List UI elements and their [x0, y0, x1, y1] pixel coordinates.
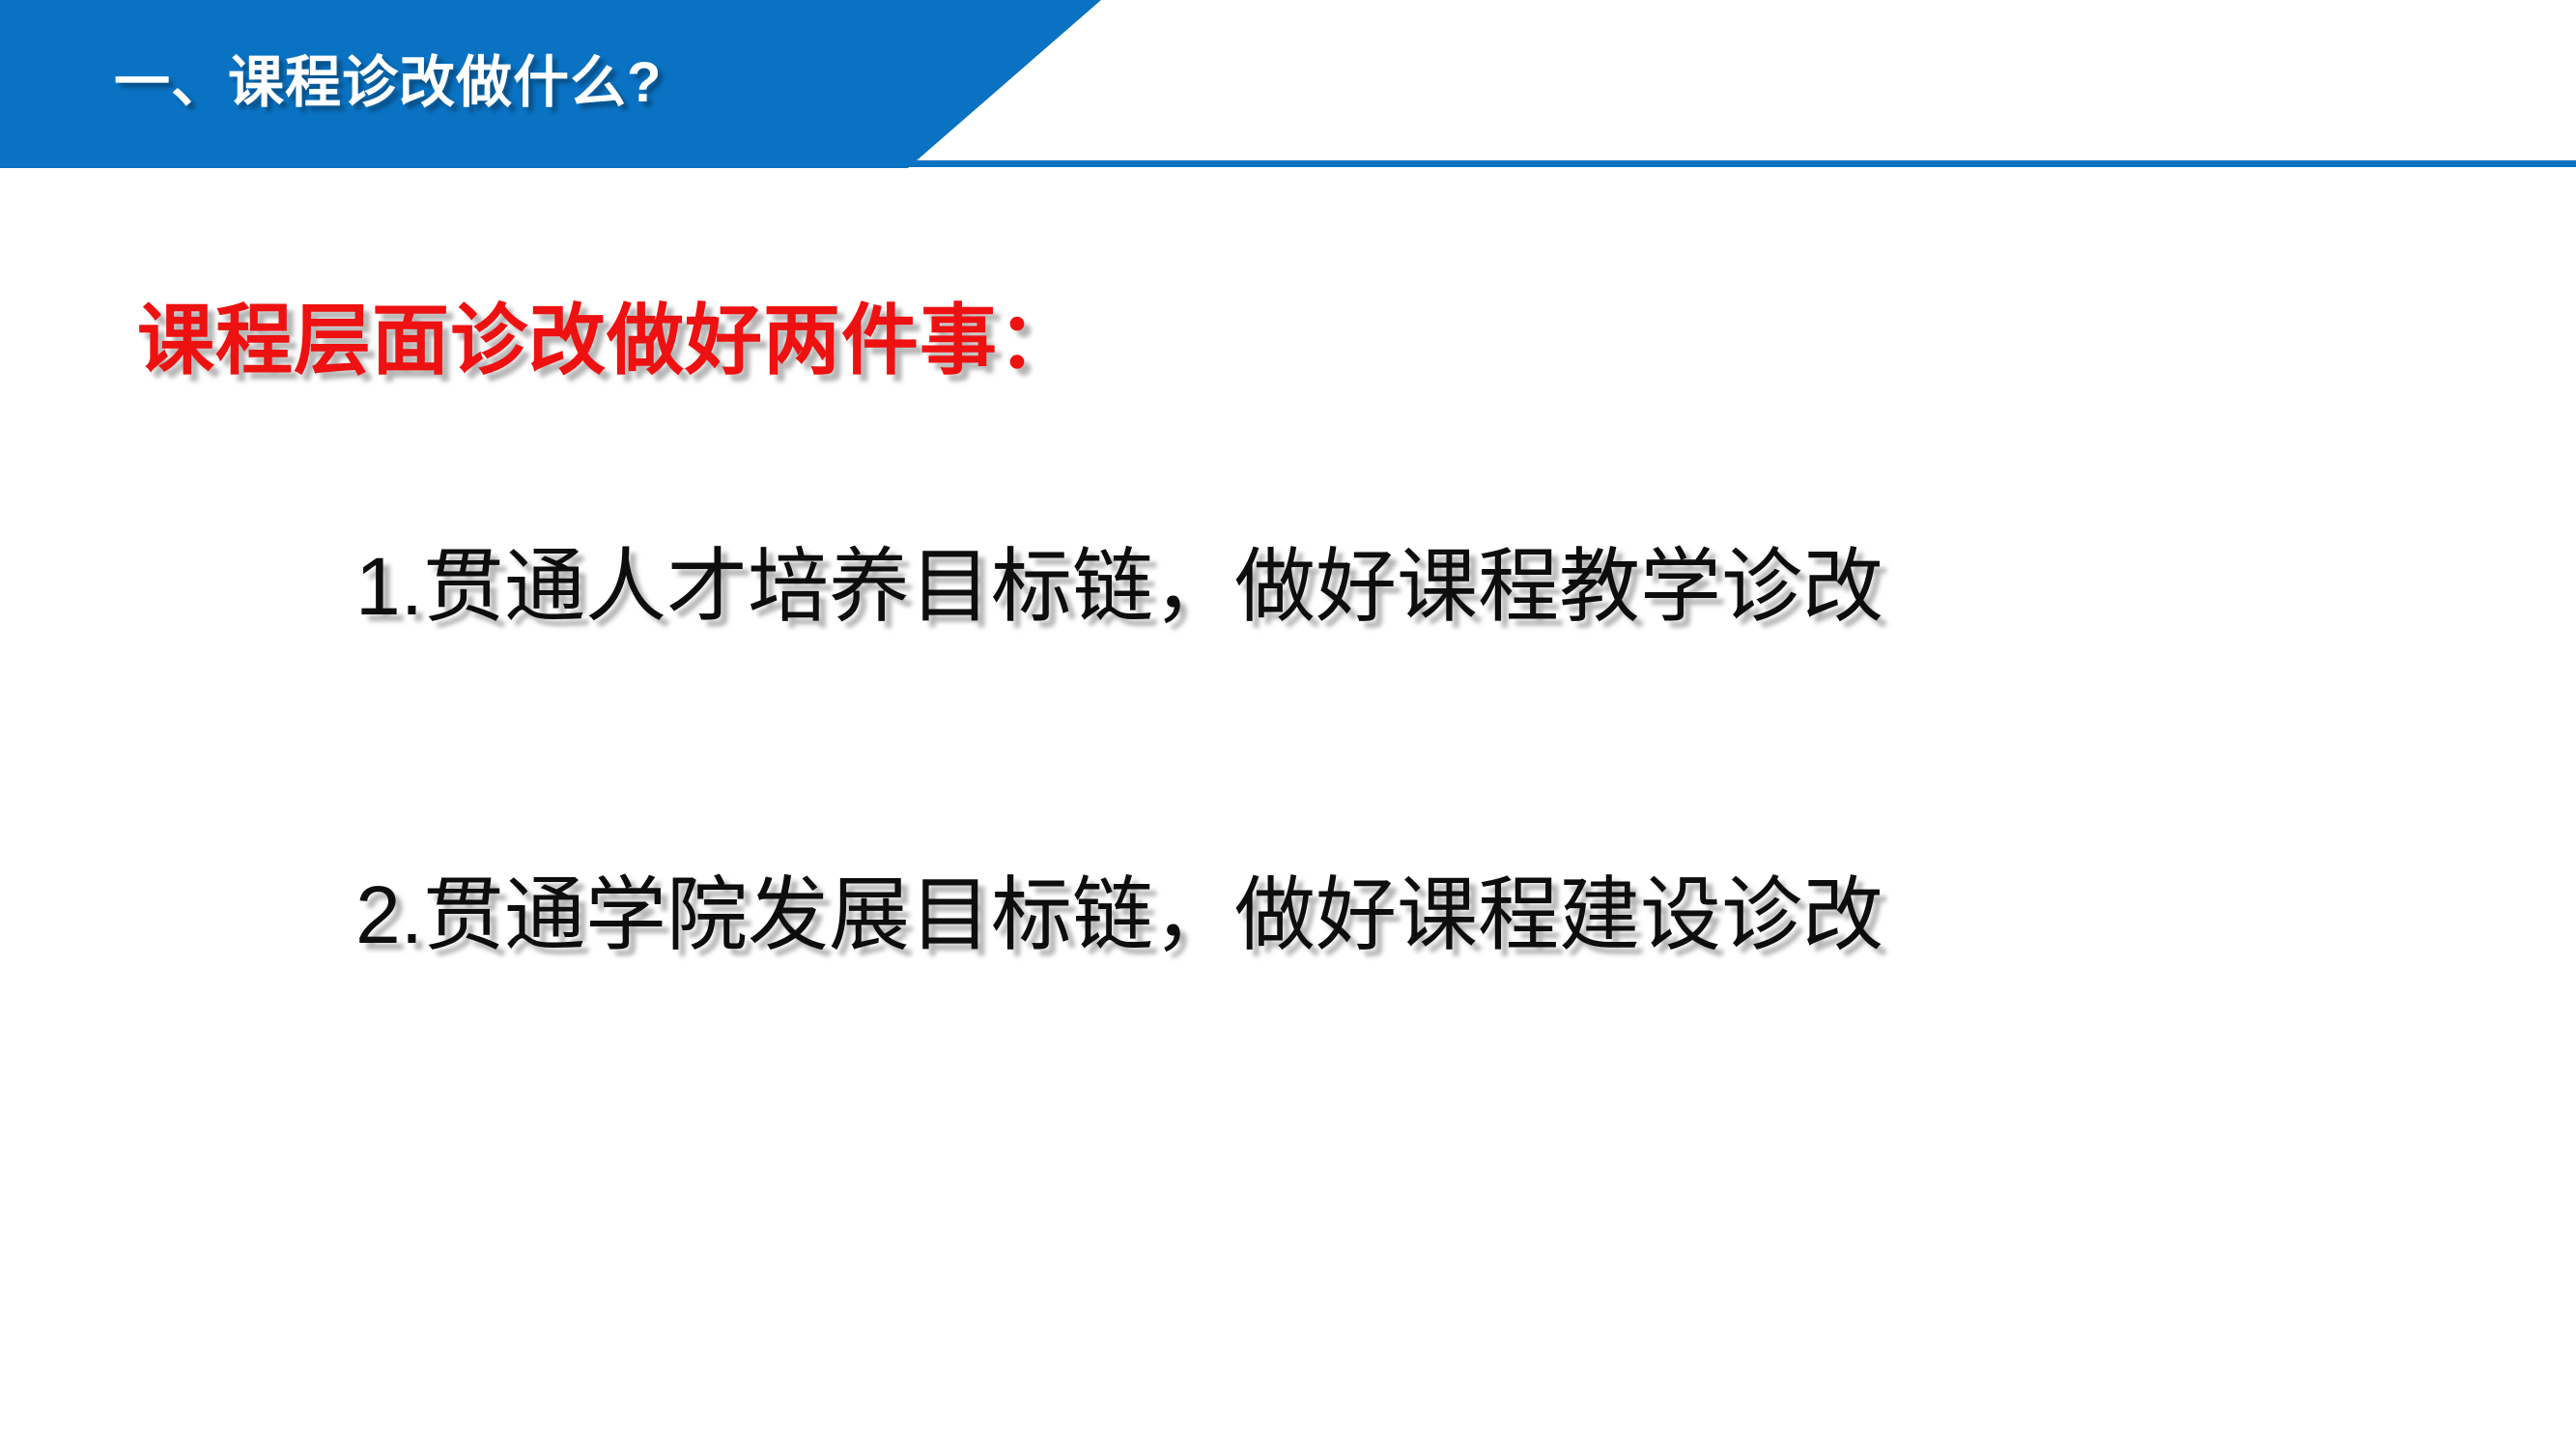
slide-canvas: 一、课程诊改做什么? 课程层面诊改做好两件事： 1.贯通人才培养目标链，做好课程… — [0, 0, 2576, 1450]
page-title: 课程层面诊改做好两件事： — [137, 278, 1076, 390]
list-item: 1.贯通人才培养目标链，做好课程教学诊改 — [355, 522, 1883, 639]
list-item: 2.贯通学院发展目标链，做好课程建设诊改 — [355, 850, 1883, 967]
section-title: 一、课程诊改做什么? — [114, 23, 983, 131]
header-divider-line — [898, 160, 2576, 167]
